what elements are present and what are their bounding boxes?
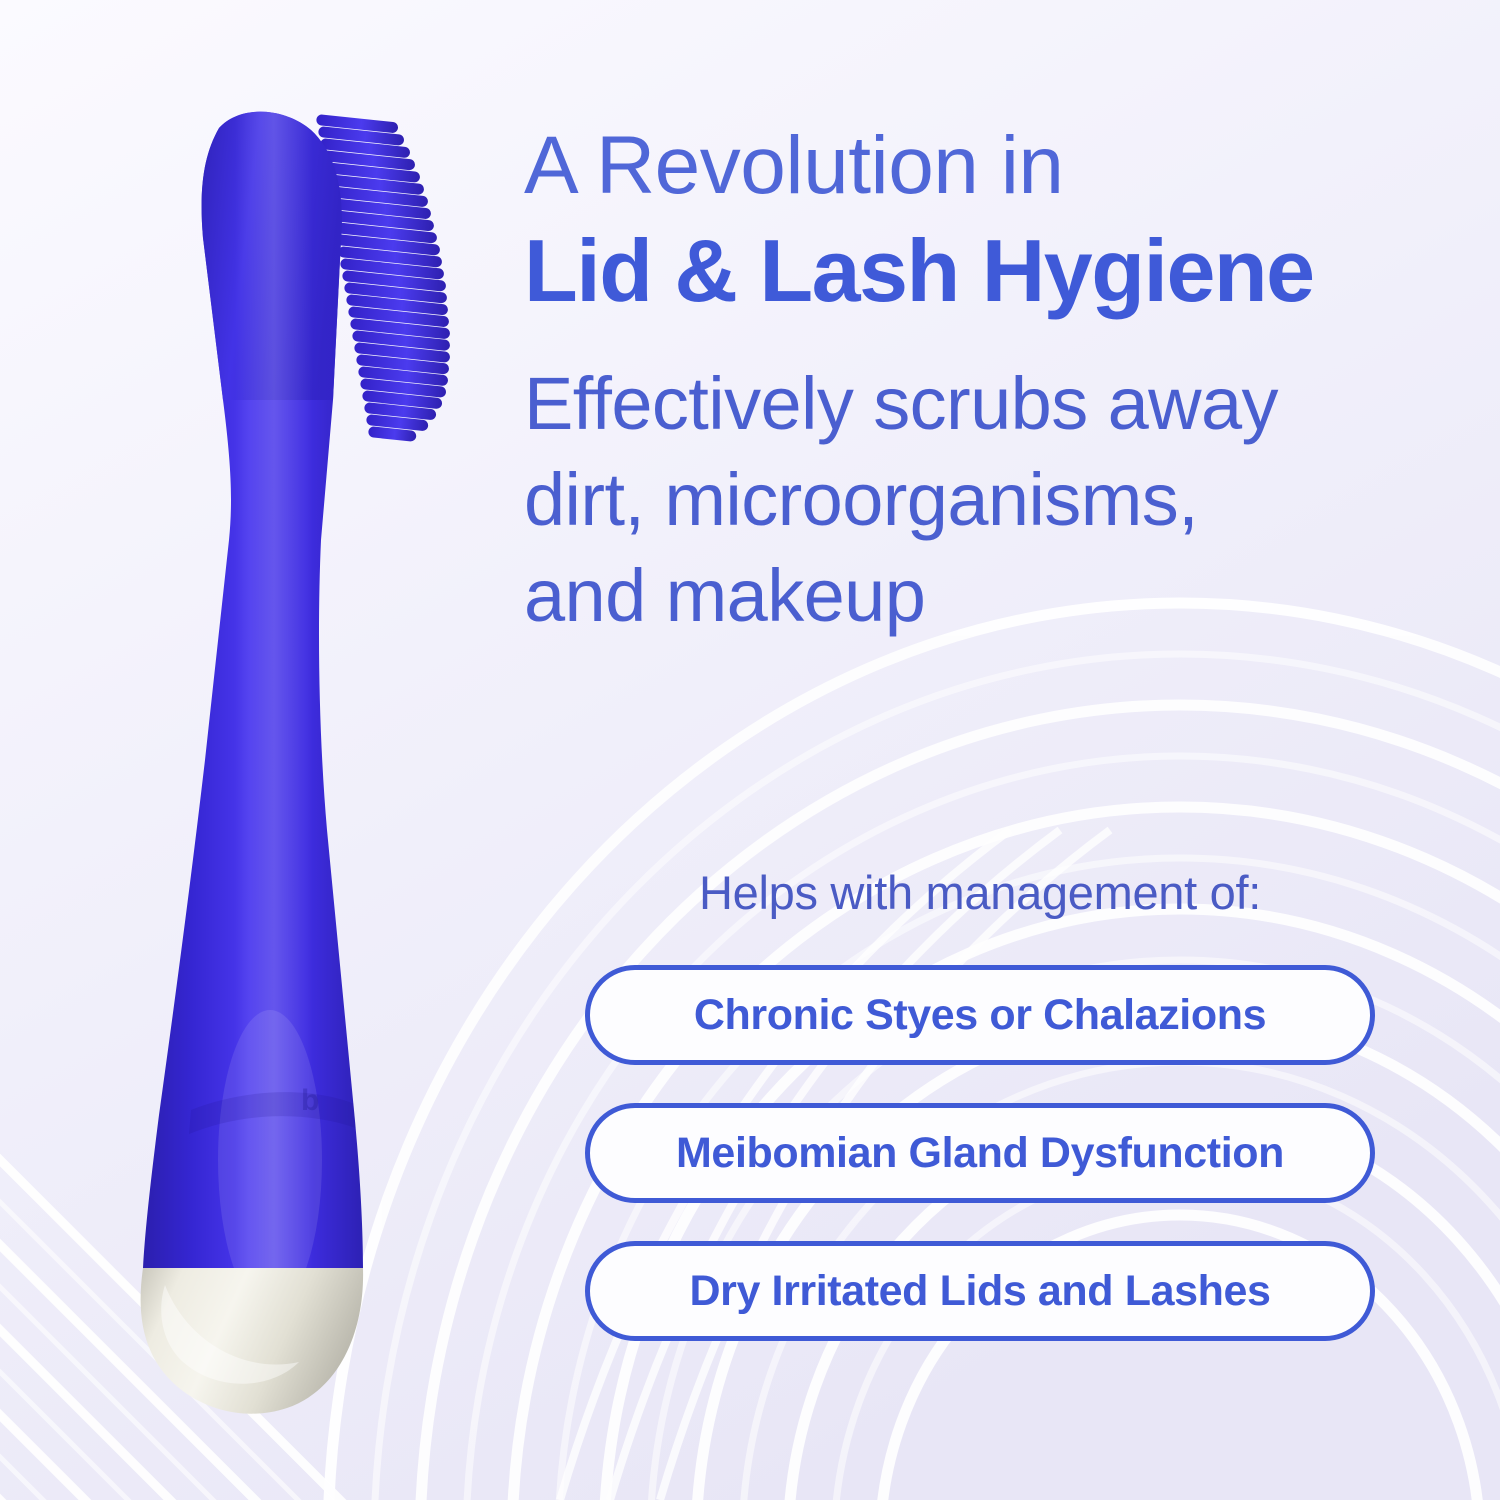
condition-pill-label: Chronic Styes or Chalazions	[694, 991, 1266, 1040]
helps-with-section: Helps with management of: Chronic Styes …	[585, 865, 1375, 1341]
condition-pill-label: Meibomian Gland Dysfunction	[676, 1129, 1284, 1178]
body-copy-line-3: and makeup	[524, 548, 1424, 644]
body-copy: Effectively scrubs away dirt, microorgan…	[524, 356, 1424, 645]
body-copy-line-1: Effectively scrubs away	[524, 356, 1424, 452]
body-copy-line-2: dirt, microorganisms,	[524, 452, 1424, 548]
product-image: b	[95, 70, 515, 1450]
condition-pill[interactable]: Meibomian Gland Dysfunction	[585, 1103, 1375, 1203]
condition-pill[interactable]: Chronic Styes or Chalazions	[585, 965, 1375, 1065]
condition-pill-list: Chronic Styes or Chalazions Meibomian Gl…	[585, 965, 1375, 1341]
embossed-logo-icon: b	[301, 1084, 319, 1117]
product-marketing-banner: b A Revolution in Lid & Lash Hygiene Eff…	[0, 0, 1500, 1500]
headline-block: A Revolution in Lid & Lash Hygiene Effec…	[524, 120, 1424, 644]
headline-emphasis: Lid & Lash Hygiene	[524, 220, 1424, 322]
condition-pill-label: Dry Irritated Lids and Lashes	[689, 1267, 1270, 1316]
headline-eyebrow: A Revolution in	[524, 120, 1424, 212]
helps-with-label: Helps with management of:	[585, 865, 1375, 921]
condition-pill[interactable]: Dry Irritated Lids and Lashes	[585, 1241, 1375, 1341]
